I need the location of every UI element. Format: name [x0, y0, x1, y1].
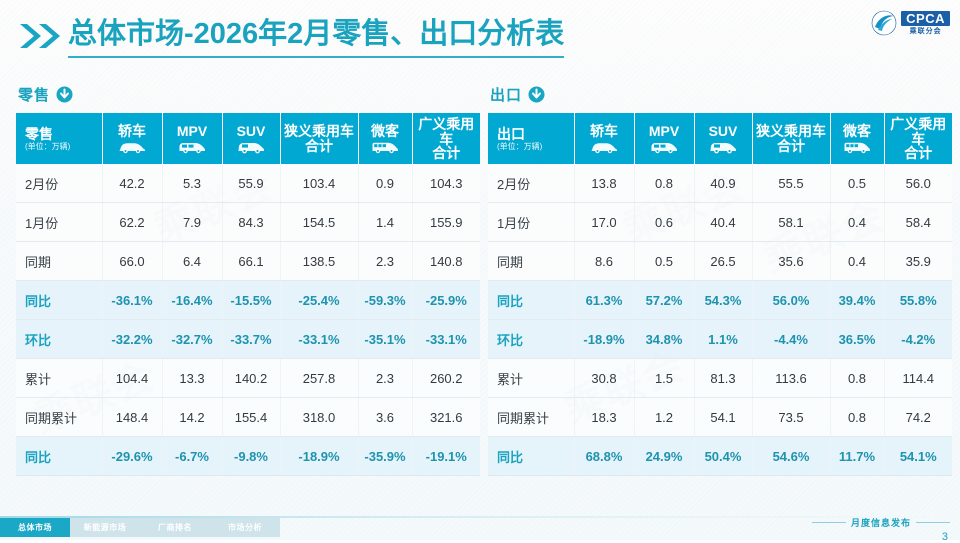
- retail-cell-r8-c3: -9.8%: [222, 437, 280, 476]
- mpv-car-icon: [649, 140, 679, 154]
- slide-root: 乘联会 乘联会 乘联会 乘联会 乘联会 总体市场-2026年2月零售、出口分析表…: [0, 0, 960, 540]
- retail-header-row: 零售(单位：万辆)轿车MPVSUV狭义乘用车合计微客广义乘用车合计: [16, 113, 480, 164]
- export-column-header-4: 狭义乘用车合计: [752, 113, 830, 164]
- export-cell-r7-c3: 54.1: [694, 398, 752, 437]
- export-cell-r3-c4: 35.6: [752, 242, 830, 281]
- circle-down-arrow-icon: [528, 86, 545, 103]
- export-row-label: 环比: [488, 320, 574, 359]
- section-label-retail: 零售: [18, 84, 73, 105]
- retail-cell-r2-c4: 154.5: [280, 203, 358, 242]
- export-cell-r1-c2: 0.8: [634, 164, 694, 203]
- page-title-wrap: 总体市场-2026年2月零售、出口分析表: [68, 14, 564, 58]
- export-cell-r4-c2: 57.2%: [634, 281, 694, 320]
- export-column-header-label: 狭义乘用车合计: [755, 124, 828, 153]
- retail-row-label: 同期累计: [16, 398, 102, 437]
- retail-cell-r4-c3: -15.5%: [222, 281, 280, 320]
- export-column-header-label: MPV: [637, 124, 692, 139]
- table-row: 2月份42.25.355.9103.40.9104.3: [16, 164, 480, 203]
- export-column-header-5: 微客: [830, 113, 884, 164]
- export-cell-r5-c5: 36.5%: [830, 320, 884, 359]
- export-cell-r1-c6: 56.0: [884, 164, 952, 203]
- retail-cell-r3-c3: 66.1: [222, 242, 280, 281]
- retail-column-header-label: SUV: [225, 124, 278, 139]
- export-cell-r8-c2: 24.9%: [634, 437, 694, 476]
- retail-row-label: 环比: [16, 320, 102, 359]
- export-row-header-cell: 出口(单位：万辆): [488, 113, 574, 164]
- footer-right: 月度信息发布 3: [812, 516, 950, 543]
- export-column-header-2: MPV: [634, 113, 694, 164]
- export-cell-r1-c5: 0.5: [830, 164, 884, 203]
- retail-cell-r7-c4: 318.0: [280, 398, 358, 437]
- table-row: 累计104.413.3140.2257.82.3260.2: [16, 359, 480, 398]
- export-row-label: 同比: [488, 437, 574, 476]
- retail-row-label: 2月份: [16, 164, 102, 203]
- export-cell-r5-c1: -18.9%: [574, 320, 634, 359]
- footer-tab-3[interactable]: 厂商排名: [140, 518, 210, 537]
- retail-cell-r6-c3: 140.2: [222, 359, 280, 398]
- retail-row-header-title: 零售: [25, 127, 100, 142]
- table-row: 同期累计18.31.254.173.50.874.2: [488, 398, 952, 437]
- retail-cell-r2-c5: 1.4: [358, 203, 412, 242]
- table-row: 累计30.81.581.3113.60.8114.4: [488, 359, 952, 398]
- retail-cell-r7-c1: 148.4: [102, 398, 162, 437]
- table-row: 同期累计148.414.2155.4318.03.6321.6: [16, 398, 480, 437]
- retail-cell-r1-c1: 42.2: [102, 164, 162, 203]
- export-cell-r5-c3: 1.1%: [694, 320, 752, 359]
- export-row-label: 同期: [488, 242, 574, 281]
- retail-cell-r6-c5: 2.3: [358, 359, 412, 398]
- export-row-header-unit: (单位：万辆): [497, 143, 572, 151]
- retail-column-header-label: 微客: [361, 124, 410, 139]
- retail-cell-r5-c5: -35.1%: [358, 320, 412, 359]
- export-cell-r2-c3: 40.4: [694, 203, 752, 242]
- cpca-swoosh-icon: [871, 10, 897, 36]
- table-row: 环比-18.9%34.8%1.1%-4.4%36.5%-4.2%: [488, 320, 952, 359]
- retail-cell-r1-c2: 5.3: [162, 164, 222, 203]
- export-cell-r4-c5: 39.4%: [830, 281, 884, 320]
- export-row-label: 累计: [488, 359, 574, 398]
- footer-rule-right: [916, 522, 950, 523]
- cpca-subtitle: 乘联分会: [910, 28, 942, 35]
- export-cell-r6-c3: 81.3: [694, 359, 752, 398]
- retail-column-header-5: 微客: [358, 113, 412, 164]
- export-row-label: 同期累计: [488, 398, 574, 437]
- retail-row-label: 累计: [16, 359, 102, 398]
- retail-cell-r4-c6: -25.9%: [412, 281, 480, 320]
- export-row-label: 同比: [488, 281, 574, 320]
- export-cell-r3-c3: 26.5: [694, 242, 752, 281]
- table-row: 环比-32.2%-32.7%-33.7%-33.1%-35.1%-33.1%: [16, 320, 480, 359]
- cpca-name: CPCA: [901, 11, 950, 26]
- export-cell-r6-c4: 113.6: [752, 359, 830, 398]
- export-cell-r4-c6: 55.8%: [884, 281, 952, 320]
- footer-tab-4[interactable]: 市场分析: [210, 518, 280, 537]
- retail-column-header-label: MPV: [165, 124, 220, 139]
- export-table-body: 2月份13.80.840.955.50.556.01月份17.00.640.45…: [488, 164, 952, 476]
- retail-cell-r8-c4: -18.9%: [280, 437, 358, 476]
- retail-cell-r4-c1: -36.1%: [102, 281, 162, 320]
- export-cell-r8-c3: 50.4%: [694, 437, 752, 476]
- minivan-car-icon: [370, 140, 400, 154]
- export-cell-r7-c2: 1.2: [634, 398, 694, 437]
- sedan-car-icon: [589, 140, 619, 154]
- retail-cell-r8-c5: -35.9%: [358, 437, 412, 476]
- retail-cell-r7-c3: 155.4: [222, 398, 280, 437]
- export-cell-r6-c1: 30.8: [574, 359, 634, 398]
- retail-row-label: 同期: [16, 242, 102, 281]
- table-row: 同比-29.6%-6.7%-9.8%-18.9%-35.9%-19.1%: [16, 437, 480, 476]
- retail-row-label: 同比: [16, 281, 102, 320]
- retail-cell-r5-c1: -32.2%: [102, 320, 162, 359]
- export-cell-r3-c5: 0.4: [830, 242, 884, 281]
- footer-tab-1[interactable]: 总体市场: [0, 518, 70, 537]
- retail-table-body: 2月份42.25.355.9103.40.9104.31月份62.27.984.…: [16, 164, 480, 476]
- export-column-header-1: 轿车: [574, 113, 634, 164]
- retail-cell-r7-c6: 321.6: [412, 398, 480, 437]
- table-row: 2月份13.80.840.955.50.556.0: [488, 164, 952, 203]
- retail-cell-r3-c4: 138.5: [280, 242, 358, 281]
- retail-column-header-1: 轿车: [102, 113, 162, 164]
- export-cell-r1-c1: 13.8: [574, 164, 634, 203]
- retail-column-header-label: 广义乘用车合计: [415, 117, 479, 161]
- retail-column-header-4: 狭义乘用车合计: [280, 113, 358, 164]
- retail-cell-r3-c5: 2.3: [358, 242, 412, 281]
- retail-cell-r5-c4: -33.1%: [280, 320, 358, 359]
- retail-row-header-unit: (单位：万辆): [25, 143, 100, 151]
- retail-row-label: 同比: [16, 437, 102, 476]
- retail-table-head: 零售(单位：万辆)轿车MPVSUV狭义乘用车合计微客广义乘用车合计: [16, 113, 480, 164]
- retail-cell-r6-c2: 13.3: [162, 359, 222, 398]
- cpca-logo-text: CPCA 乘联分会: [901, 11, 950, 35]
- retail-cell-r3-c6: 140.8: [412, 242, 480, 281]
- suv-car-icon: [236, 140, 266, 154]
- export-column-header-label: 微客: [833, 124, 882, 139]
- retail-cell-r4-c5: -59.3%: [358, 281, 412, 320]
- export-cell-r4-c4: 56.0%: [752, 281, 830, 320]
- retail-cell-r1-c4: 103.4: [280, 164, 358, 203]
- table-row: 同期66.06.466.1138.52.3140.8: [16, 242, 480, 281]
- export-cell-r6-c5: 0.8: [830, 359, 884, 398]
- export-cell-r3-c1: 8.6: [574, 242, 634, 281]
- retail-cell-r4-c4: -25.4%: [280, 281, 358, 320]
- retail-column-header-label: 狭义乘用车合计: [283, 124, 356, 153]
- retail-cell-r8-c6: -19.1%: [412, 437, 480, 476]
- export-analysis-table: 出口(单位：万辆)轿车MPVSUV狭义乘用车合计微客广义乘用车合计 2月份13.…: [488, 113, 952, 476]
- table-row: 1月份17.00.640.458.10.458.4: [488, 203, 952, 242]
- export-column-header-6: 广义乘用车合计: [884, 113, 952, 164]
- export-column-header-label: 广义乘用车合计: [887, 117, 951, 161]
- retail-column-header-label: 轿车: [105, 124, 160, 139]
- retail-cell-r6-c1: 104.4: [102, 359, 162, 398]
- retail-analysis-table: 零售(单位：万辆)轿车MPVSUV狭义乘用车合计微客广义乘用车合计 2月份42.…: [16, 113, 480, 476]
- page-title: 总体市场-2026年2月零售、出口分析表: [68, 14, 564, 58]
- retail-cell-r5-c6: -33.1%: [412, 320, 480, 359]
- export-cell-r2-c2: 0.6: [634, 203, 694, 242]
- export-cell-r5-c4: -4.4%: [752, 320, 830, 359]
- footer-tab-bar[interactable]: 总体市场新能源市场厂商排名市场分析: [0, 518, 280, 537]
- retail-cell-r1-c5: 0.9: [358, 164, 412, 203]
- export-cell-r7-c4: 73.5: [752, 398, 830, 437]
- retail-cell-r8-c2: -6.7%: [162, 437, 222, 476]
- export-row-label: 1月份: [488, 203, 574, 242]
- footer-rule-left: [812, 522, 846, 523]
- retail-column-header-6: 广义乘用车合计: [412, 113, 480, 164]
- export-cell-r3-c6: 35.9: [884, 242, 952, 281]
- retail-cell-r7-c5: 3.6: [358, 398, 412, 437]
- retail-cell-r5-c3: -33.7%: [222, 320, 280, 359]
- export-cell-r5-c2: 34.8%: [634, 320, 694, 359]
- retail-cell-r3-c1: 66.0: [102, 242, 162, 281]
- export-header-row: 出口(单位：万辆)轿车MPVSUV狭义乘用车合计微客广义乘用车合计: [488, 113, 952, 164]
- export-cell-r2-c5: 0.4: [830, 203, 884, 242]
- export-column-header-label: SUV: [697, 124, 750, 139]
- export-cell-r5-c6: -4.2%: [884, 320, 952, 359]
- retail-cell-r7-c2: 14.2: [162, 398, 222, 437]
- sedan-car-icon: [117, 140, 147, 154]
- export-cell-r8-c1: 68.8%: [574, 437, 634, 476]
- export-row-header-title: 出口: [497, 127, 572, 142]
- export-cell-r3-c2: 0.5: [634, 242, 694, 281]
- export-cell-r4-c1: 61.3%: [574, 281, 634, 320]
- page-number: 3: [812, 531, 948, 543]
- table-row: 同比68.8%24.9%50.4%54.6%11.7%54.1%: [488, 437, 952, 476]
- retail-column-header-3: SUV: [222, 113, 280, 164]
- slide-header: 总体市场-2026年2月零售、出口分析表 CPCA 乘联分会: [0, 0, 960, 68]
- retail-row-header-cell: 零售(单位：万辆): [16, 113, 102, 164]
- export-cell-r1-c3: 40.9: [694, 164, 752, 203]
- table-row: 同比-36.1%-16.4%-15.5%-25.4%-59.3%-25.9%: [16, 281, 480, 320]
- export-row-label: 2月份: [488, 164, 574, 203]
- retail-cell-r2-c1: 62.2: [102, 203, 162, 242]
- export-table-head: 出口(单位：万辆)轿车MPVSUV狭义乘用车合计微客广义乘用车合计: [488, 113, 952, 164]
- export-column-header-label: 轿车: [577, 124, 632, 139]
- footer-brand-text: 月度信息发布: [851, 516, 911, 529]
- export-cell-r2-c4: 58.1: [752, 203, 830, 242]
- export-cell-r8-c5: 11.7%: [830, 437, 884, 476]
- export-cell-r8-c6: 54.1%: [884, 437, 952, 476]
- export-cell-r6-c6: 114.4: [884, 359, 952, 398]
- retail-cell-r1-c6: 104.3: [412, 164, 480, 203]
- retail-cell-r1-c3: 55.9: [222, 164, 280, 203]
- table-row: 同比61.3%57.2%54.3%56.0%39.4%55.8%: [488, 281, 952, 320]
- export-cell-r7-c1: 18.3: [574, 398, 634, 437]
- export-cell-r6-c2: 1.5: [634, 359, 694, 398]
- retail-cell-r8-c1: -29.6%: [102, 437, 162, 476]
- table-row: 1月份62.27.984.3154.51.4155.9: [16, 203, 480, 242]
- minivan-car-icon: [842, 140, 872, 154]
- double-chevron-right-icon: [18, 22, 64, 50]
- footer-tab-2[interactable]: 新能源市场: [70, 518, 140, 537]
- retail-cell-r2-c6: 155.9: [412, 203, 480, 242]
- retail-cell-r2-c3: 84.3: [222, 203, 280, 242]
- retail-cell-r6-c6: 260.2: [412, 359, 480, 398]
- retail-column-header-2: MPV: [162, 113, 222, 164]
- suv-car-icon: [708, 140, 738, 154]
- section-label-export: 出口: [490, 84, 545, 105]
- export-cell-r2-c1: 17.0: [574, 203, 634, 242]
- retail-cell-r6-c4: 257.8: [280, 359, 358, 398]
- section-label-retail-text: 零售: [18, 84, 50, 105]
- export-cell-r1-c4: 55.5: [752, 164, 830, 203]
- table-row: 同期8.60.526.535.60.435.9: [488, 242, 952, 281]
- retail-row-label: 1月份: [16, 203, 102, 242]
- export-cell-r8-c4: 54.6%: [752, 437, 830, 476]
- section-label-export-text: 出口: [490, 84, 522, 105]
- retail-cell-r4-c2: -16.4%: [162, 281, 222, 320]
- mpv-car-icon: [177, 140, 207, 154]
- export-cell-r7-c5: 0.8: [830, 398, 884, 437]
- retail-cell-r5-c2: -32.7%: [162, 320, 222, 359]
- footer-brand: 月度信息发布: [812, 516, 950, 529]
- export-column-header-3: SUV: [694, 113, 752, 164]
- retail-cell-r2-c2: 7.9: [162, 203, 222, 242]
- retail-cell-r3-c2: 6.4: [162, 242, 222, 281]
- export-cell-r7-c6: 74.2: [884, 398, 952, 437]
- export-cell-r4-c3: 54.3%: [694, 281, 752, 320]
- export-cell-r2-c6: 58.4: [884, 203, 952, 242]
- cpca-logo: CPCA 乘联分会: [871, 10, 950, 36]
- circle-down-arrow-icon: [56, 86, 73, 103]
